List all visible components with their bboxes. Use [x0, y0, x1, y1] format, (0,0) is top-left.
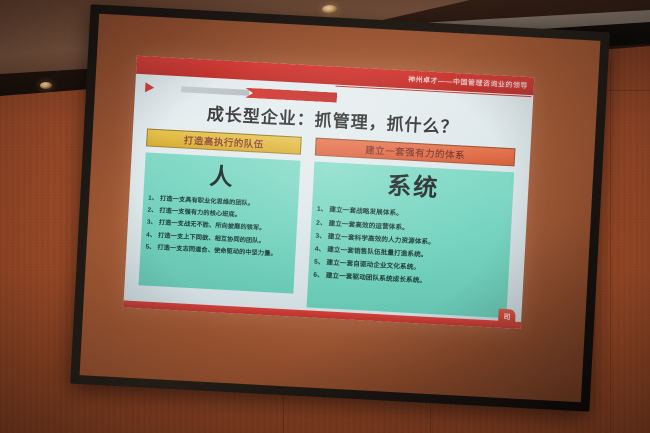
- spot-light-icon: [40, 82, 52, 89]
- slide-corner-badge: 司: [498, 309, 516, 325]
- column-big-char-people: 人: [149, 161, 295, 194]
- slide-column-system: 建立一套强有力的体系 系统 1、建立一套战略发展体系。 2、建立一套高效的运营体…: [307, 138, 516, 319]
- column-panel-people: 人 1、打造一支具有职业化思维的团队。 2、打造一支强有力的核心班底。 3、打造…: [139, 152, 301, 293]
- list-item-number: 3、: [147, 219, 157, 227]
- list-item-number: 1、: [148, 195, 158, 203]
- accent-grey-bar: [181, 86, 249, 96]
- slide-column-people: 打造高执行的队伍 人 1、打造一支具有职业化思维的团队。 2、打造一支强有力的核…: [139, 128, 302, 293]
- list-item-number: 2、: [316, 219, 327, 227]
- list-item-text: 建立一套战略发展体系。: [329, 207, 403, 218]
- list-item-number: 5、: [145, 243, 155, 251]
- accent-red-bar: [245, 88, 337, 103]
- slide-banner-text: 神州卓才——中国管理咨询业的领导: [408, 74, 528, 90]
- list-item-text: 打造一支强有力的核心班底。: [159, 208, 241, 219]
- list-item-text: 建立一套驱动团队系统成长系统。: [326, 273, 427, 285]
- list-item-number: 2、: [147, 207, 157, 215]
- spot-light-icon: [322, 5, 338, 14]
- play-triangle-icon: [145, 82, 155, 92]
- column-panel-system: 系统 1、建立一套战略发展体系。 2、建立一套高效的运营体系。 3、建立一套科学…: [307, 162, 515, 319]
- list-item-number: 4、: [146, 231, 156, 239]
- column-big-char-system: 系统: [318, 170, 509, 207]
- column-header-people: 打造高执行的队伍: [146, 128, 302, 154]
- conference-room-photo: 神州卓才——中国管理咨询业的领导 成长型企业：抓管理，抓什么？ 打造高执行的队伍…: [0, 0, 650, 433]
- list-item-number: 4、: [315, 246, 326, 254]
- bullet-list-people: 1、打造一支具有职业化思维的团队。 2、打造一支强有力的核心班底。 3、打造一支…: [145, 193, 293, 261]
- list-item-text: 建立一套高效的运营体系。: [328, 220, 409, 231]
- list-item-number: 3、: [315, 232, 326, 240]
- wall-seam: [610, 60, 611, 433]
- projection-screen-frame: 神州卓才——中国管理咨询业的领导 成长型企业：抓管理，抓什么？ 打造高执行的队伍…: [70, 4, 610, 412]
- projected-slide: 神州卓才——中国管理咨询业的领导 成长型企业：抓管理，抓什么？ 打造高执行的队伍…: [123, 56, 534, 329]
- projection-screen-surface: 神州卓才——中国管理咨询业的领导 成长型企业：抓管理，抓什么？ 打造高执行的队伍…: [80, 14, 601, 403]
- bullet-list-system: 1、建立一套战略发展体系。 2、建立一套高效的运营体系。 3、建立一套科学高效的…: [313, 203, 507, 292]
- slide-columns: 打造高执行的队伍 人 1、打造一支具有职业化思维的团队。 2、打造一支强有力的核…: [138, 128, 516, 308]
- list-item-number: 6、: [313, 272, 324, 280]
- list-item-number: 1、: [317, 206, 328, 214]
- column-header-system: 建立一套强有力的体系: [315, 138, 516, 167]
- list-item-number: 5、: [314, 259, 325, 267]
